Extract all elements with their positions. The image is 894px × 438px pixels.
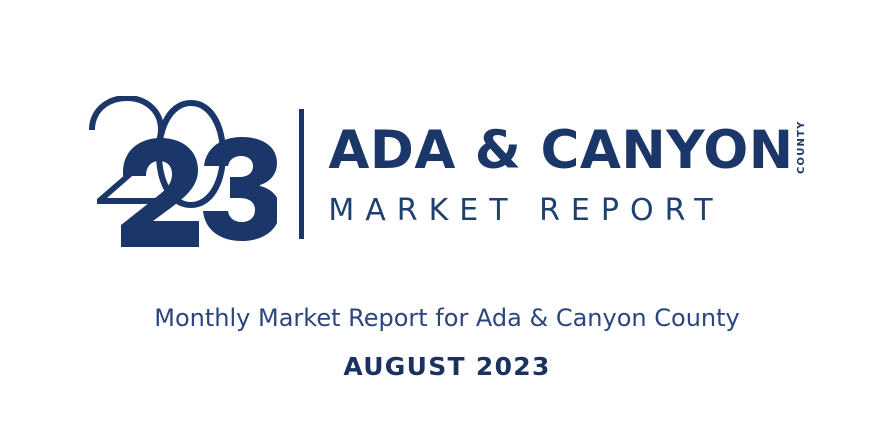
year-mark-2023-icon — [87, 96, 277, 252]
logo-wordmark: ADA & CANYON COUNTY MARKET REPORT — [328, 96, 806, 254]
wordmark-market-report: MARKET REPORT — [328, 193, 806, 228]
wordmark-primary-row: ADA & CANYON COUNTY — [328, 124, 806, 177]
logo-divider — [299, 109, 304, 239]
subtitle-block: Monthly Market Report for Ada & Canyon C… — [0, 305, 894, 381]
wordmark-county-label: COUNTY — [797, 126, 807, 174]
report-cover-page: ADA & CANYON COUNTY MARKET REPORT Monthl… — [0, 0, 894, 438]
report-subtitle: Monthly Market Report for Ada & Canyon C… — [0, 305, 894, 331]
wordmark-ada-canyon: ADA & CANYON — [328, 124, 793, 177]
report-date: AUGUST 2023 — [0, 353, 894, 381]
logo-inner: ADA & CANYON COUNTY MARKET REPORT — [87, 96, 806, 252]
logo-lockup: ADA & CANYON COUNTY MARKET REPORT — [0, 96, 894, 260]
